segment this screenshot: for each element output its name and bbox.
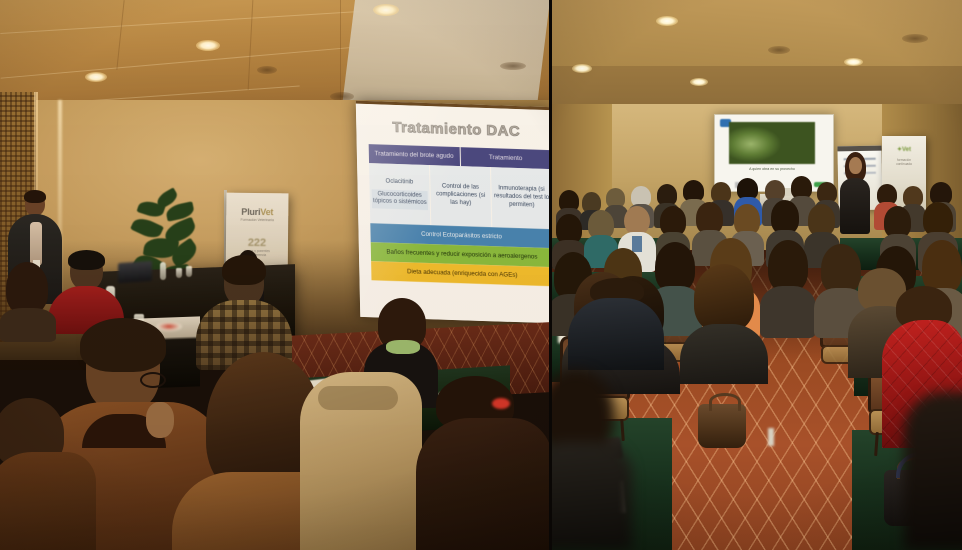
- red-cup: [492, 398, 510, 409]
- banner-number: 222: [232, 237, 282, 250]
- drinking-glass: [186, 266, 192, 277]
- slide-cell-text: Oclacitinib: [386, 178, 414, 187]
- slide-cell-text: Glucocorticoides tópicos o sistémicos: [372, 189, 428, 211]
- ceiling-downlight: [85, 72, 107, 82]
- attendee-foreground: [416, 376, 550, 550]
- attendee-torso: [0, 452, 96, 550]
- ceiling-downlight: [196, 40, 220, 51]
- attendee-hair: [80, 318, 166, 372]
- attendee-hair: [68, 250, 105, 270]
- attendee-foreground: [552, 370, 632, 550]
- banner-tagline: Formación Veterinaria: [232, 218, 282, 223]
- slide-table: Tratamiento del brote agudo Tratamiento …: [369, 144, 550, 286]
- attendee-hair: [222, 255, 266, 285]
- attendee-torso: [568, 298, 664, 370]
- floor-marker: [768, 428, 774, 446]
- attendee-hair: [923, 202, 953, 236]
- attendee-torso: [552, 442, 632, 550]
- slide-caption: A quien obra en su provecho: [729, 167, 815, 171]
- slide-table-cell: Inmunoterapia (si resultados del test lo…: [491, 167, 550, 229]
- ceiling-downlight: [572, 64, 592, 73]
- ceiling-vent: [500, 62, 526, 70]
- handbag: [698, 404, 746, 448]
- eyeglasses: [140, 372, 166, 388]
- ceiling-downlight: [373, 4, 399, 16]
- speaker-hair: [24, 190, 46, 203]
- ceiling-downlight: [656, 16, 678, 26]
- ceiling-downlight: [690, 78, 708, 86]
- attendee-seated: [568, 278, 664, 370]
- banner-tagline: formacióncontinuada: [886, 158, 922, 167]
- panel-divider: [549, 0, 552, 550]
- right-photo-panel: A quien obra en su provecho ✦Vet formaci…: [552, 0, 962, 550]
- chair-leg: [874, 432, 879, 456]
- banner-brand: PluriVet: [232, 207, 282, 218]
- attendee-foreground: [0, 398, 96, 550]
- flipchart-clamp: [837, 146, 881, 152]
- presenter-head: [849, 157, 862, 174]
- attendee-seated: [760, 240, 816, 338]
- attendee-torso: [416, 418, 550, 550]
- attendee-torso: [760, 286, 816, 338]
- drinking-glass: [176, 268, 182, 278]
- ceiling-downlight: [844, 58, 863, 66]
- scarf: [386, 340, 420, 354]
- left-photo-panel: Tratamiento DAC Tratamiento del brote ag…: [0, 0, 550, 550]
- attendee-foreground: [680, 264, 768, 384]
- attendee-hair: [694, 264, 754, 332]
- slide-table-body-row: Oclacitinib Glucocorticoides tópicos o s…: [369, 163, 550, 229]
- attendee-hair: [6, 262, 48, 314]
- presenter-torso: [840, 178, 870, 234]
- water-bottle: [160, 262, 166, 280]
- projection-screen: Tratamiento DAC Tratamiento del brote ag…: [356, 101, 550, 324]
- attendee-foreground: [904, 392, 962, 550]
- slide-table-cell: Oclacitinib Glucocorticoides tópicos o s…: [369, 163, 431, 225]
- presentation-slide: Tratamiento DAC Tratamiento del brote ag…: [356, 104, 550, 324]
- photo-collage: Tratamiento DAC Tratamiento del brote ag…: [0, 0, 962, 550]
- slide-title: Tratamiento DAC: [366, 118, 546, 141]
- slide-photo: [729, 122, 815, 164]
- ceiling-vent: [768, 46, 790, 54]
- slide-table-cell: Control de las complicaciones (si las ha…: [430, 165, 492, 227]
- attendee-hair: [768, 240, 808, 292]
- ceiling-vent: [257, 66, 277, 74]
- banner-brand: ✦Vet: [886, 146, 922, 153]
- presenter: [838, 152, 872, 234]
- attendee-hair: [771, 200, 799, 234]
- attendee-torso: [904, 392, 962, 550]
- hand: [146, 402, 174, 438]
- attendee-torso: [680, 324, 768, 384]
- ceiling-panel: [552, 0, 962, 66]
- ceiling-vent: [902, 34, 928, 43]
- coat-shoulder-seam: [318, 386, 398, 410]
